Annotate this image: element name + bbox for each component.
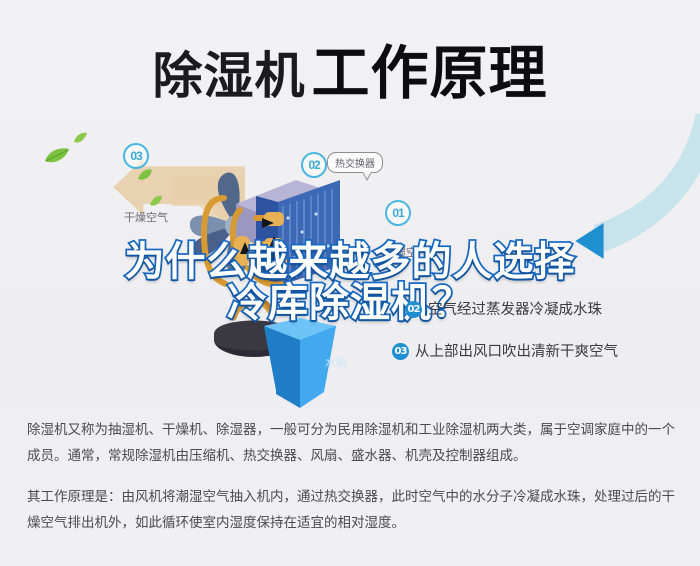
body-paragraph-1: 除湿机又称为抽湿机、干燥机、除湿器，一般可分为民用除湿机和工业除湿机两大类，属于… — [27, 418, 679, 469]
label-heat-exchanger: 热交换器 — [327, 152, 383, 173]
title-part-2: 工作原理 — [311, 39, 547, 107]
badge-02-heat-exchanger: 02 — [301, 152, 327, 178]
body-copy: 除湿机又称为抽湿机、干燥机、除湿器，一般可分为民用除湿机和工业除湿机两大类，属于… — [27, 418, 679, 553]
label-water-tank: 水箱 — [325, 354, 347, 370]
page-title: 除湿机工作原理 — [0, 26, 700, 110]
leaf-icon — [73, 132, 88, 144]
badge-03-dry-air: 03 — [123, 143, 149, 169]
step-badge-02: 02 — [405, 301, 422, 318]
label-humid-air: 潮湿空气 — [384, 244, 428, 260]
step-text-03: 从上部出风口吹出清新干爽空气 — [415, 344, 618, 360]
leaf-icon — [149, 195, 163, 207]
step-badge-03: 03 — [392, 343, 409, 360]
label-dry-air: 干燥空气 — [124, 209, 168, 225]
leaf-icon — [137, 168, 153, 181]
dehumidifier-diagram: 03 干燥空气 02 热交换器 01 潮湿空气 水箱 — [0, 120, 700, 405]
step-note-03: 03从上部出风口吹出清新干爽空气 — [392, 340, 618, 361]
badge-01-humid-air: 01 — [385, 200, 411, 226]
title-part-1: 除湿机 — [152, 47, 305, 105]
body-paragraph-2: 其工作原理是：由风机将潮湿空气抽入机内，通过热交换器，此时空气中的水分子冷凝成水… — [27, 485, 679, 536]
leaf-icon — [44, 147, 70, 165]
infographic-page: 除湿机工作原理 — [0, 0, 700, 566]
step-note-02: 02空气经过蒸发器冷凝成水珠 — [405, 298, 602, 319]
humid-air-arrow-icon — [400, 112, 700, 272]
step-text-02: 空气经过蒸发器冷凝成水珠 — [428, 302, 602, 318]
dehumidifier-machine-illustration — [178, 158, 398, 408]
